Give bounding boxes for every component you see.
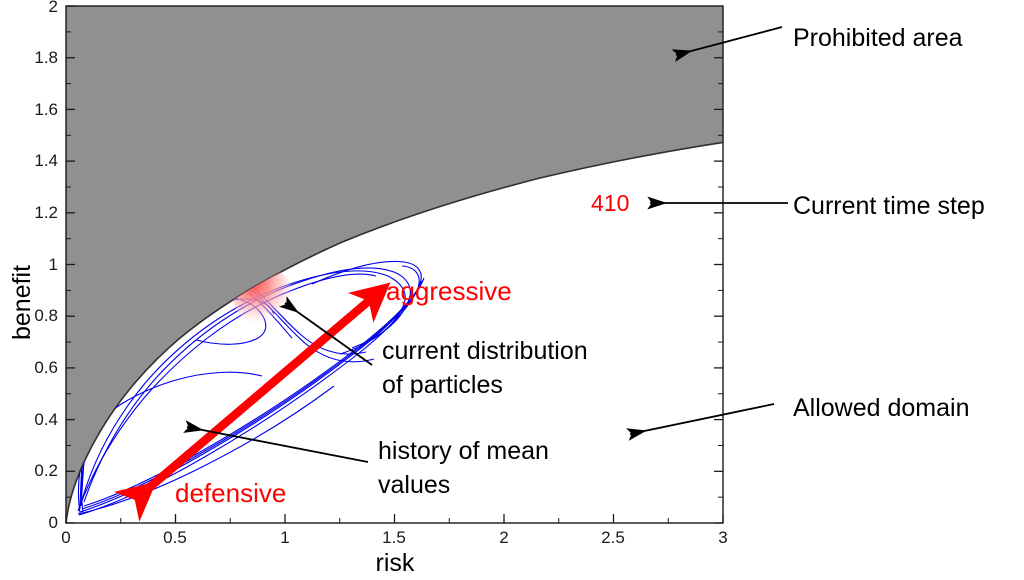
defensive-label: defensive [175,478,286,509]
y-tick-label-2: 2 [20,0,58,17]
x-axis-title: risk [355,549,435,578]
current-distribution-label-line1: current distribution [382,334,588,368]
y-tick-label-1_8: 1.8 [20,48,58,68]
aggressive-label: aggressive [386,276,512,307]
x-tick-label-1: 1 [265,528,305,548]
history-of-mean-values-label-line2: values [378,468,450,502]
y-tick-label-0_4: 0.4 [20,410,58,430]
time-step-value: 410 [591,190,629,217]
figure-canvas: 2 1.8 1.6 1.4 1.2 1 0.8 0.6 0.4 0.2 0 0 … [0,0,1024,580]
prohibited-area-label: Prohibited area [793,21,963,55]
x-tick-label-2: 2 [484,528,524,548]
y-tick-label-1_6: 1.6 [20,100,58,120]
current-time-step-label: Current time step [793,189,985,223]
y-tick-label-0_6: 0.6 [20,358,58,378]
y-tick-label-0_2: 0.2 [20,461,58,481]
plot-svg [0,0,1024,580]
y-tick-label-1_4: 1.4 [20,151,58,171]
x-tick-label-0_5: 0.5 [155,528,195,548]
x-tick-label-2_5: 2.5 [593,528,633,548]
x-tick-label-0: 0 [46,528,86,548]
allowed-domain-label: Allowed domain [793,391,970,425]
x-tick-label-1_5: 1.5 [374,528,414,548]
history-of-mean-values-label-line1: history of mean [378,434,549,468]
current-distribution-label-line2: of particles [382,368,503,402]
y-axis-title: benefit [8,200,37,340]
x-tick-label-3: 3 [703,528,743,548]
